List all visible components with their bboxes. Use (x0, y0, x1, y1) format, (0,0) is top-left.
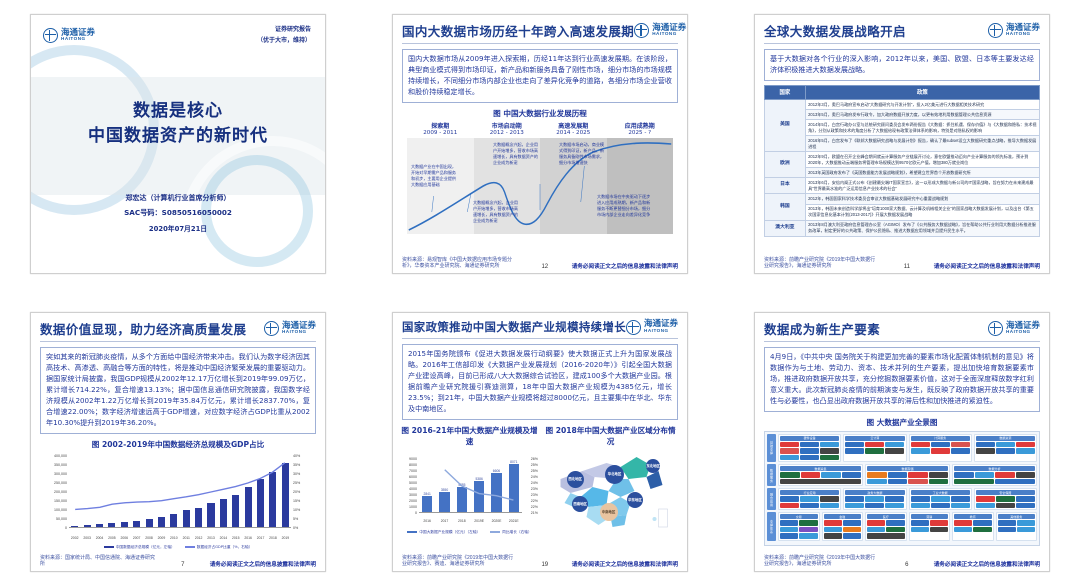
landscape-row: 基础支撑硬件设备云计算计算服务数据资源 (767, 434, 1037, 463)
company-logo-chip (911, 448, 930, 454)
stage-years: 2025 - ? (607, 130, 674, 136)
logo-en-text: HAITONG (282, 330, 316, 335)
company-logo-chip (929, 479, 949, 485)
line-series (419, 459, 522, 513)
slide-header: 数据成为新生产要素 海通证券 HAITONG (755, 313, 1049, 340)
landscape-category: 融合应用 (767, 488, 776, 510)
landscape-group: 数据存储 (865, 464, 950, 486)
haitong-logo: 海通证券 HAITONG (988, 23, 1040, 38)
haitong-logo-icon (264, 321, 279, 336)
table-row: 欧洲2012年9月，欧盟在召开企业峰会期间就云计算服务产业链展开讨论，意在欧盟推… (765, 152, 1040, 168)
axis-tick: 8000 (409, 463, 417, 467)
x-tick-label: 2013 (205, 536, 216, 540)
company-logo-chip (931, 503, 950, 509)
axis-tick: 23% (531, 487, 538, 491)
axis-tick: 0 (415, 511, 417, 515)
company-logo-chip (888, 472, 908, 478)
company-logo-chip (800, 448, 819, 454)
cover-title-line2: 中国数据资产的新时代 (31, 124, 325, 149)
landscape-group: 安全保障 (974, 488, 1037, 510)
stage-item: 市场启动期 2012 - 2013 (474, 121, 541, 136)
company-logo-chip (951, 442, 970, 448)
slide-data-value[interactable]: 数据价值显现，助力经济高质量发展 海通证券 HAITONG 突如其来的新冠肺炎疫… (30, 312, 326, 572)
stage-name: 高速发展期 (540, 121, 607, 130)
policy-table: 国家 政策 美国2012年3月，奥巴马政府宣布启动“大数据研究与开发计划”，投入… (764, 85, 1040, 237)
slide-body-text: 突如其来的新冠肺炎疫情，从多个方面给中国经济带来冲击。我们认为数字经济因其高技术… (40, 347, 316, 434)
axis-tick: 350,000 (54, 463, 67, 467)
logo-chips (976, 496, 1035, 508)
landscape-group-header: 硬件设备 (780, 436, 839, 441)
plot-area (69, 456, 291, 528)
cell-policy: 2013年8月澳大利亚政府信息管理办公室（AGIMO）发布了《公共服务大数据战略… (805, 220, 1039, 236)
figure-pair: 图 2016-21年中国大数据产业规模及增速 90008000700060005… (401, 420, 679, 535)
slide-body-text: 2015年国务院颁布《促进大数据发展行动纲要》使大数据正式上升为国家发展战略。2… (402, 344, 678, 420)
slide-title: 国内大数据市场历经十年跨入高速发展期 (402, 21, 634, 40)
landscape-group-header: 数据存储 (867, 466, 948, 471)
x-tick-label: 2008 (143, 536, 154, 540)
x-tick-label: 2002 (69, 536, 80, 540)
source-note: 资料来源：易观智库《中国大数据应用市场专题分析》，华泰资本产业研究院、海通证券研… (402, 257, 518, 271)
landscape-category: 支撑体系 (767, 512, 776, 541)
table-row: 2013年5月，奥巴马政府发布行政令，加大政府数据开放力度，以更有效地利用数据管… (765, 110, 1040, 120)
company-logo-chip (929, 472, 949, 478)
title-divider (402, 338, 678, 339)
slide-header: 国内大数据市场历经十年跨入高速发展期 海通证券 HAITONG (393, 15, 687, 42)
company-logo-chip (951, 503, 970, 509)
company-logo-chip (996, 442, 1015, 448)
landscape-group-header: 行业应用 (780, 490, 839, 495)
x-tick-label: 2014 (218, 536, 229, 540)
landscape-row: 支撑体系交易金融医疗营销教育其他服务 (767, 512, 1037, 541)
company-logo-chip (973, 527, 991, 533)
logo-chips (976, 442, 1035, 454)
company-logo-chip (931, 442, 950, 448)
axis-tick: 250,000 (54, 481, 67, 485)
company-logo-chip (1016, 503, 1035, 509)
slide-footer: 资料来源：前瞻产业研究院《2019年中国大数据行业研究报告》，海通证券研究所 6… (755, 555, 1049, 569)
cell-policy: 2014年5月，白宫行政办公室与总统研究顾问委员会发布两份报告《大数据：抓住机遇… (805, 120, 1039, 136)
company-logo-chip (931, 496, 950, 502)
map-bubble-north: 华北地区 (605, 465, 624, 484)
logo-chips (998, 520, 1036, 532)
company-logo-chip (1017, 520, 1035, 526)
cell-policy: 2016年5月，白宫发布了《联邦大数据研究战略与发展计划》报告，确认了最subs… (805, 136, 1039, 152)
stage-note: 大数据产业在中国出现，开始对早期需产品和服务和初步，主要用企业提供大数据应用基础 (411, 164, 457, 189)
landscape-group: 医疗 (865, 512, 907, 541)
industry-landscape: 基础支撑硬件设备云计算计算服务数据资源数据服务数据采集数据存储数据分析融合应用行… (764, 431, 1040, 546)
stage-item: 高速发展期 2014 - 2025 (540, 121, 607, 136)
map-bubble-central-south: 中南地区 (600, 503, 618, 521)
slide-footer: 资料来源：前瞻产业研究院《2019年中国大数据行业研究报告》，海通证券研究所 1… (755, 257, 1049, 271)
haitong-logo: 海通证券 HAITONG (626, 320, 678, 335)
haitong-logo-icon (626, 320, 641, 335)
map-wrap: 图 2018年中国大数据产业区域分布情况 (542, 420, 679, 535)
company-logo-chip (867, 520, 885, 526)
company-logo-chip (998, 527, 1016, 533)
figure-caption: 图 中国大数据行业发展历程 (393, 108, 687, 119)
landscape-group: 政务大数据 (843, 488, 906, 510)
cell-policy: 2012年9月，欧盟在召开企业峰会期间就云计算服务产业链展开讨论，意在欧盟推动迈… (805, 152, 1039, 168)
company-logo-chip (885, 496, 904, 502)
company-logo-chip (1016, 496, 1035, 502)
company-logo-chip (865, 503, 884, 509)
landscape-group: 工业大数据 (909, 488, 972, 510)
company-logo-chip (975, 472, 995, 478)
slide-header: 全球大数据发展战略开启 海通证券 HAITONG (755, 15, 1049, 42)
company-logo-chip (865, 442, 884, 448)
logo-chips (780, 496, 839, 508)
source-note: 资料来源：国家统计局、中国信通院、海通证券研究所 (40, 555, 156, 569)
plot-area: 284135504385538666068071 (419, 459, 522, 513)
company-logo-chip (951, 448, 970, 454)
landscape-category: 数据服务 (767, 464, 776, 486)
landscape-group: 硬件设备 (778, 434, 841, 463)
company-logo-chip (995, 479, 1035, 485)
company-logo-chip (865, 496, 884, 502)
rating-label: （优于大市，维持） (257, 35, 311, 46)
stage-labels: 探索期 2009 - 2011 市场启动期 2012 - 2013 高速发展期 … (407, 121, 673, 136)
x-tick-label: 2021E (506, 519, 522, 523)
chart-legend: 中国数据经济总规模（亿元，左轴） 数据经济占GDP比重（%，右轴） (39, 545, 317, 550)
report-label: 证券研究报告 (257, 24, 311, 35)
page-number: 7 (181, 562, 184, 568)
y-axis-right: 40%35%30%25%20%15%10%5%0% (291, 456, 317, 528)
cell-policy: 2012年，韩国国家科学技术委员会审议大数据基础发展研究中心重要战略规划 (805, 194, 1039, 204)
logo-chips (911, 496, 970, 508)
company-logo-chip (911, 527, 929, 533)
slide-footer: 资料来源：前瞻产业研究院《2019年中国大数据行业研究报告》、赛迪、海通证券研究… (393, 555, 687, 569)
company-logo-chip (843, 533, 861, 539)
logo-chips (911, 520, 949, 532)
company-logo-chip (820, 455, 839, 461)
s-curve-figure: 大数据产业在中国出现，开始对早期需产品和服务和初步，主要用企业提供大数据应用基础… (407, 138, 673, 234)
figure-caption: 图 2018年中国大数据产业区域分布情况 (542, 425, 679, 447)
cell-policy: 2012年3月，奥巴马政府宣布启动“大数据研究与开发计划”，投入2亿美元进行大数… (805, 99, 1039, 109)
company-logo-chip (845, 448, 864, 454)
logo-en-text: HAITONG (61, 37, 95, 42)
x-tick-label: 2015 (230, 536, 241, 540)
landscape-group-header: 医疗 (867, 514, 905, 519)
haitong-logo: 海通证券 HAITONG (634, 23, 686, 38)
stage-name: 市场启动期 (474, 121, 541, 130)
title-divider (764, 341, 1040, 342)
company-logo-chip (867, 472, 887, 478)
disclaimer: 请务必阅读正文之后的信息披露和法律声明 (934, 262, 1040, 270)
company-logo-chip (886, 520, 904, 526)
cover-sac-number: SAC号码：S0850516050002 (31, 208, 325, 218)
axis-tick: 23% (531, 493, 538, 497)
landscape-group: 云计算 (843, 434, 906, 463)
stage-years: 2014 - 2025 (540, 130, 607, 136)
slide-footer: 资料来源：易观智库《中国大数据应用市场专题分析》，华泰资本产业研究院、海通证券研… (393, 257, 687, 271)
cell-country: 韩国 (765, 194, 806, 220)
slide-cover[interactable]: 海通证券 HAITONG 证券研究报告 （优于大市，维持） 数据是核心 中国数据… (30, 14, 326, 274)
stage-name: 应用成熟期 (607, 121, 674, 130)
data-economy-chart: 400,000350,000300,000250,000200,000150,0… (39, 452, 317, 550)
landscape-group-header: 营销 (911, 514, 949, 519)
stage-note: 大数据概念兴起，企业用户开始增多，营收市场高速增长，具有数据资产的企业成为新宠 (493, 142, 539, 167)
cell-policy: 2013年6月，安倍内阁正式公布《创建最尖端IT国家宣言》，这一以形成大数据与新… (805, 178, 1039, 194)
company-logo-chip (911, 496, 930, 502)
slide-industry-scale[interactable]: 国家政策推动中国大数据产业规模持续增长 海通证券 HAITONG 2015年国务… (392, 312, 688, 572)
logo-en-text: HAITONG (1006, 330, 1040, 335)
company-logo-chip (911, 520, 929, 526)
landscape-row: 融合应用行业应用政务大数据工业大数据安全保障 (767, 488, 1037, 510)
title-divider (764, 43, 1040, 44)
company-logo-chip (845, 442, 864, 448)
logo-chips (780, 472, 861, 484)
company-logo-chip (780, 479, 861, 485)
table-row: 2013年，韩国未来创造科学部将出“培育1000家大数据、云计算及机械相关企业”… (765, 204, 1040, 220)
company-logo-chip (820, 442, 839, 448)
logo-chips (780, 442, 839, 461)
col-country: 国家 (765, 85, 806, 99)
slide-domestic-market[interactable]: 国内大数据市场历经十年跨入高速发展期 海通证券 HAITONG 国内大数据市场从… (392, 14, 688, 274)
x-tick-label: 2018 (267, 536, 278, 540)
axis-tick: 0% (293, 526, 298, 530)
company-logo-chip (995, 472, 1015, 478)
landscape-group-header: 交易 (780, 514, 818, 519)
slide-title: 全球大数据发展战略开启 (764, 21, 906, 40)
x-tick-label: 2012 (193, 536, 204, 540)
cell-policy: 2013年5月，奥巴马政府发布行政令，加大政府数据开放力度，以更有效地利用数据管… (805, 110, 1039, 120)
axis-tick: 100,000 (54, 508, 67, 512)
company-logo-chip (976, 448, 995, 454)
slide-global-strategy[interactable]: 全球大数据发展战略开启 海通证券 HAITONG 基于大数据对各个行业的深入影响… (754, 14, 1050, 274)
disclaimer: 请务必阅读正文之后的信息披露和法律声明 (572, 262, 678, 270)
company-logo-chip (976, 503, 995, 509)
figure-caption: 图 大数据产业全景图 (755, 417, 1049, 428)
landscape-group: 数据资源 (974, 434, 1037, 463)
company-logo-chip (885, 503, 904, 509)
axis-tick: 20% (293, 490, 300, 494)
company-logo-chip (780, 533, 798, 539)
axis-tick: 2000 (409, 499, 417, 503)
axis-tick: 25% (531, 469, 538, 473)
landscape-group: 营销 (909, 512, 951, 541)
cell-country: 澳大利亚 (765, 220, 806, 236)
x-tick-label: 2004 (94, 536, 105, 540)
axis-tick: 5% (293, 517, 298, 521)
table-header-row: 国家 政策 (765, 85, 1040, 99)
haitong-logo-icon (988, 23, 1003, 38)
page-number: 12 (541, 264, 548, 270)
table-row: 2014年5月，白宫行政办公室与总统研究顾问委员会发布两份报告《大数据：抓住机遇… (765, 120, 1040, 136)
landscape-group: 其他服务 (996, 512, 1038, 541)
company-logo-chip (930, 520, 948, 526)
axis-tick: 200,000 (54, 490, 67, 494)
x-tick-label: 2007 (131, 536, 142, 540)
slide-body-text: 基于大数据对各个行业的深入影响，2012年以来，美国、欧盟、日本等主要发达经济体… (764, 49, 1040, 81)
slide-body-text: 国内大数据市场从2009年进入探索期，历经11年达到行业高速发展期。在该阶段，典… (402, 49, 678, 103)
landscape-group-header: 计算服务 (911, 436, 970, 441)
company-logo-chip (800, 503, 819, 509)
company-logo-chip (821, 472, 841, 478)
company-logo-chip (780, 448, 799, 454)
page-number: 19 (541, 562, 548, 568)
legend-line: 同比增长（右轴） (502, 530, 532, 534)
axis-tick: 21% (531, 511, 538, 515)
legend-line: 数据经济占GDP比重（%，右轴） (197, 545, 253, 549)
company-logo-chip (780, 520, 798, 526)
logo-chips (845, 442, 904, 454)
slide-title: 数据价值显现，助力经济高质量发展 (40, 319, 246, 338)
company-logo-chip (820, 496, 839, 502)
map-bubble-northwest: 西北地区 (567, 471, 584, 488)
company-logo-chip (780, 527, 798, 533)
haitong-logo: 海通证券 HAITONG (988, 321, 1040, 336)
axis-tick: 0 (65, 526, 67, 530)
x-tick-label: 2017 (255, 536, 266, 540)
x-axis-labels: 2002200320042005200620072008200920102011… (69, 536, 291, 540)
cover-title: 数据是核心 中国数据资产的新时代 (31, 99, 325, 148)
x-tick-label: 2016 (419, 519, 435, 523)
landscape-group-header: 金融 (824, 514, 862, 519)
slide-footer: 资料来源：国家统计局、中国信通院、海通证券研究所 7 请务必阅读正文之后的信息披… (31, 555, 325, 569)
cover-header: 海通证券 HAITONG 证券研究报告 （优于大市，维持） (31, 15, 325, 47)
logo-chips (911, 442, 970, 454)
landscape-group: 数据采集 (778, 464, 863, 486)
landscape-group: 计算服务 (909, 434, 972, 463)
company-logo-chip (996, 448, 1015, 454)
axis-tick: 40% (293, 454, 300, 458)
slide-new-factor[interactable]: 数据成为新生产要素 海通证券 HAITONG 4月9日，《中共中央 国务院关于构… (754, 312, 1050, 572)
company-logo-chip (780, 496, 799, 502)
company-logo-chip (888, 479, 908, 485)
company-logo-chip (800, 496, 819, 502)
company-logo-chip (954, 472, 974, 478)
axis-tick: 10% (293, 508, 300, 512)
map-bubble-east: 华东地区 (627, 492, 643, 508)
company-logo-chip (820, 503, 839, 509)
industry-scale-chart: 9000800070006000500040003000200010000 26… (401, 449, 538, 529)
company-logo-chip (780, 455, 799, 461)
page-number: 11 (904, 264, 910, 270)
logo-chips (867, 520, 905, 539)
map-bubble-southwest: 西南地区 (572, 496, 588, 512)
cover-meta: 郑宏达（计算机行业首席分析师） SAC号码：S0850516050002 202… (31, 193, 325, 233)
axis-tick: 15% (293, 499, 300, 503)
table-row: 澳大利亚2013年8月澳大利亚政府信息管理办公室（AGIMO）发布了《公共服务大… (765, 220, 1040, 236)
company-logo-chip (954, 520, 972, 526)
haitong-logo-icon (634, 23, 649, 38)
axis-tick: 22% (531, 499, 538, 503)
company-logo-chip (1016, 442, 1035, 448)
logo-en-text: HAITONG (652, 32, 686, 37)
cover-background: 海通证券 HAITONG 证券研究报告 （优于大市，维持） 数据是核心 中国数据… (31, 15, 325, 273)
stage-note: 大数据市场启动，商业模式得到印证，新产品、新服务具备刚性市场需求，细分市场增速快 (559, 142, 605, 167)
table-row: 日本2013年6月，安倍内阁正式公布《创建最尖端IT国家宣言》，这一以形成大数据… (765, 178, 1040, 194)
logo-chips (954, 472, 1035, 484)
company-logo-chip (1016, 448, 1035, 454)
company-logo-chip (867, 533, 905, 539)
landscape-group-header: 数据分析 (954, 466, 1035, 471)
company-logo-chip (824, 533, 842, 539)
slide-title: 国家政策推动中国大数据产业规模持续增长 (402, 319, 626, 335)
slide-header: 数据价值显现，助力经济高质量发展 海通证券 HAITONG (31, 313, 325, 340)
cover-author: 郑宏达（计算机行业首席分析师） (31, 193, 325, 203)
company-logo-chip (976, 442, 995, 448)
line-path (445, 470, 514, 500)
company-logo-chip (799, 527, 817, 533)
axis-tick: 24% (531, 481, 538, 485)
cover-date: 2020年07月21日 (31, 223, 325, 233)
axis-tick: 50,000 (56, 517, 67, 521)
company-logo-chip (801, 472, 821, 478)
disclaimer: 请务必阅读正文之后的信息披露和法律声明 (572, 560, 678, 568)
company-logo-chip (996, 496, 1015, 502)
company-logo-chip (820, 448, 839, 454)
company-logo-chip (951, 496, 970, 502)
axis-tick: 6000 (409, 475, 417, 479)
haitong-logo: 海通证券 HAITONG (264, 321, 316, 336)
cell-country: 美国 (765, 99, 806, 151)
company-logo-chip (911, 503, 930, 509)
axis-tick: 30% (293, 472, 300, 476)
landscape-group-header: 数据采集 (780, 466, 861, 471)
stage-years: 2012 - 2013 (474, 130, 541, 136)
axis-tick: 35% (293, 463, 300, 467)
axis-tick: 24% (531, 475, 538, 479)
company-logo-chip (867, 527, 885, 533)
company-logo-chip (845, 503, 864, 509)
axis-tick: 22% (531, 505, 538, 509)
table-row: 美国2012年3月，奥巴马政府宣布启动“大数据研究与开发计划”，投入2亿美元进行… (765, 99, 1040, 109)
figure-caption: 图 2002-2019年中国数据经济总规模及GDP占比 (31, 439, 325, 450)
axis-tick: 7000 (409, 469, 417, 473)
axis-tick: 300,000 (54, 472, 67, 476)
landscape-group-header: 政务大数据 (845, 490, 904, 495)
x-tick-label: 2010 (168, 536, 179, 540)
company-logo-chip (996, 503, 1015, 509)
axis-tick: 400,000 (54, 454, 67, 458)
chart-legend: 中国大数据产业规模（亿元）（左轴） 同比增长（右轴） (401, 530, 538, 535)
logo-chips (867, 472, 948, 484)
axis-tick: 26% (531, 457, 538, 461)
landscape-group: 数据分析 (952, 464, 1037, 486)
slide-body-text: 4月9日，《中共中央 国务院关于构建更加完善的要素市场化配置体制机制的意见》将数… (764, 347, 1040, 412)
landscape-group: 行业应用 (778, 488, 841, 510)
x-tick-label: 2016 (242, 536, 253, 540)
source-note: 资料来源：前瞻产业研究院《2019年中国大数据行业研究报告》、赛迪、海通证券研究… (402, 555, 518, 569)
company-logo-chip (908, 472, 928, 478)
x-tick-label: 2009 (156, 536, 167, 540)
company-logo-chip (865, 448, 884, 454)
stage-name: 探索期 (407, 121, 474, 130)
landscape-category: 基础支撑 (767, 434, 776, 463)
company-logo-chip (867, 479, 887, 485)
company-logo-chip (954, 479, 994, 485)
col-policy: 政策 (805, 85, 1039, 99)
company-logo-chip (886, 527, 904, 533)
company-logo-chip (973, 520, 991, 526)
company-logo-chip (842, 472, 862, 478)
company-logo-chip (843, 527, 861, 533)
x-axis-labels: 2016201720182019E2020E2021E (419, 519, 522, 523)
company-logo-chip (824, 527, 842, 533)
line-series (69, 456, 291, 528)
landscape-group: 金融 (822, 512, 864, 541)
company-logo-chip (824, 520, 842, 526)
x-tick-label: 2019E (471, 519, 487, 523)
slide-title: 数据成为新生产要素 (764, 319, 880, 338)
stage-years: 2009 - 2011 (407, 130, 474, 136)
company-logo-chip (885, 448, 904, 454)
landscape-group-header: 教育 (954, 514, 992, 519)
x-tick-label: 2017 (436, 519, 452, 523)
company-logo-chip (800, 455, 819, 461)
landscape-group-header: 其他服务 (998, 514, 1036, 519)
